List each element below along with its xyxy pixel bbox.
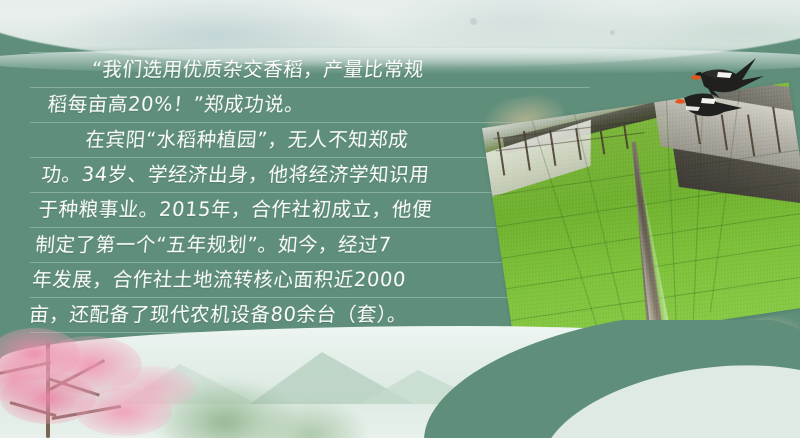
quote-line-1: “我们选用优质杂交香稻，产量比常规 bbox=[49, 52, 572, 87]
wash-speck bbox=[610, 30, 615, 35]
swallow-birds-decoration bbox=[660, 52, 780, 130]
body-line-2: 功。34岁、学经济出身，他将经济学知识用 bbox=[40, 157, 563, 192]
swallow-icon bbox=[660, 52, 780, 130]
wash-speck bbox=[470, 18, 477, 25]
body-line-3: 于种粮事业。2015年，合作社初成立，他便 bbox=[37, 192, 560, 227]
peach-blossom-branch bbox=[0, 328, 205, 438]
body-line-5: 年发展，合作社土地流转核心面积近2000 bbox=[31, 262, 554, 297]
body-line-1: 在宾阳“水稻种植园”，无人不知郑成 bbox=[43, 122, 566, 157]
poster-canvas: “我们选用优质杂交香稻，产量比常规 稻每亩高20%！”郑成功说。 在宾阳“水稻种… bbox=[0, 0, 800, 438]
quote-line-2: 稻每亩高20%！”郑成功说。 bbox=[46, 87, 569, 122]
body-line-4: 制定了第一个“五年规划”。如今，经过7 bbox=[34, 227, 557, 262]
bottom-watercolor-scene bbox=[0, 320, 800, 438]
article-body: “我们选用优质杂交香稻，产量比常规 稻每亩高20%！”郑成功说。 在宾阳“水稻种… bbox=[28, 52, 572, 332]
